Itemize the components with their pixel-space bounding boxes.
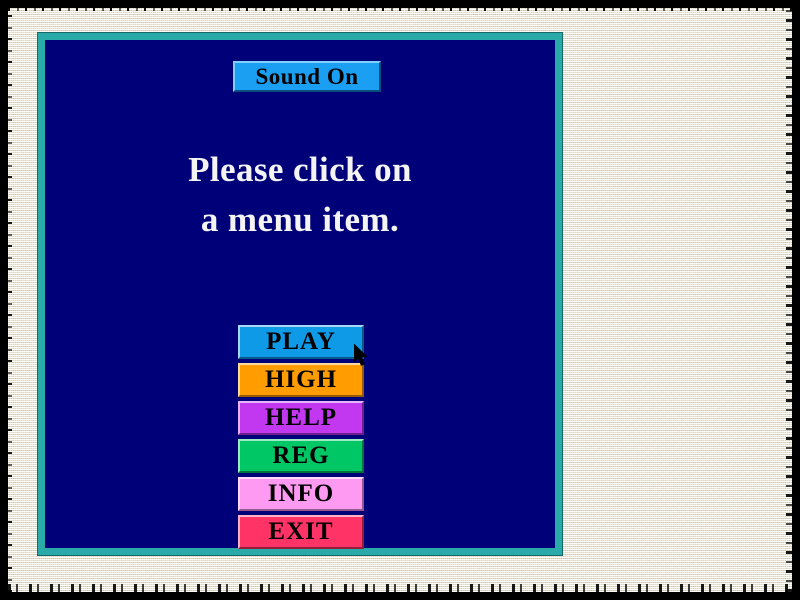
- menu-button-reg[interactable]: REG: [238, 439, 364, 473]
- prompt-line-1: Please click on: [45, 145, 555, 195]
- menu-button-high[interactable]: HIGH: [238, 363, 364, 397]
- menu-button-label: EXIT: [268, 518, 333, 545]
- prompt-line-2: a menu item.: [45, 195, 555, 245]
- menu-button-info[interactable]: INFO: [238, 477, 364, 511]
- menu-button-help[interactable]: HELP: [238, 401, 364, 435]
- prompt-message: Please click on a menu item.: [45, 145, 555, 244]
- menu-button-label: INFO: [268, 480, 335, 507]
- menu-button-exit[interactable]: EXIT: [238, 515, 364, 549]
- menu-button-label: REG: [272, 442, 329, 469]
- sound-toggle-button[interactable]: Sound On: [233, 61, 381, 92]
- menu-button-label: HELP: [265, 404, 337, 431]
- main-menu: PLAYHIGHHELPREGINFOEXIT: [238, 325, 364, 549]
- menu-button-play[interactable]: PLAY: [238, 325, 364, 359]
- game-panel: Sound On Please click on a menu item. PL…: [38, 33, 562, 555]
- menu-button-label: PLAY: [266, 328, 336, 355]
- menu-button-label: HIGH: [265, 366, 337, 393]
